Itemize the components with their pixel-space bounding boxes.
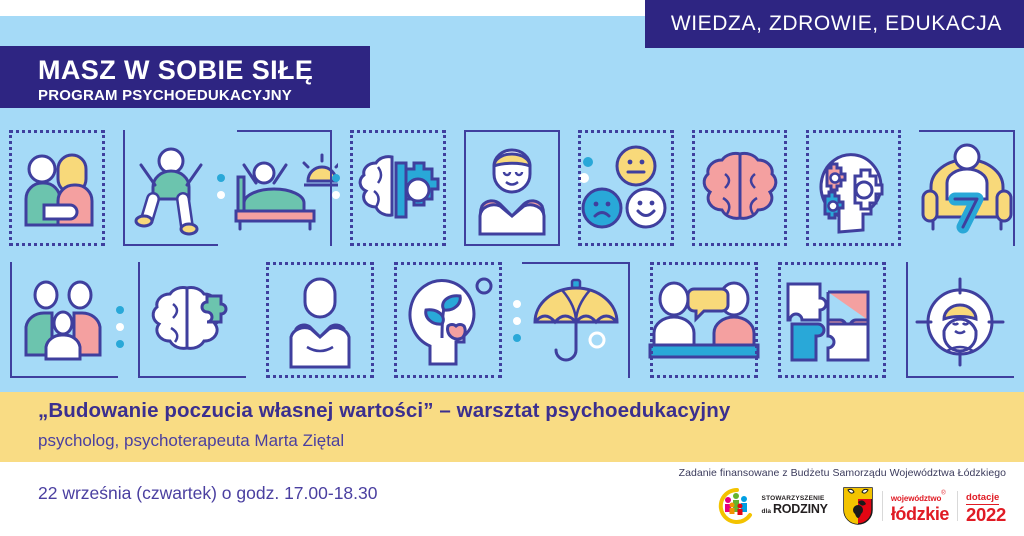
decor-frame-corner xyxy=(906,262,1014,378)
person-in-armchair-icon xyxy=(910,128,1024,252)
decor-frame-dotted xyxy=(806,130,902,246)
emotion-faces-icon xyxy=(569,128,683,252)
voivodeship-logo: województwo® łódzkie dotacje 2022 xyxy=(842,486,1006,526)
lecture-presenter: psycholog, psychoterapeuta Marta Ziętal xyxy=(38,431,344,451)
association-logo: STOWARZYSZENIE dla RODZINY xyxy=(717,487,828,525)
jumping-person-icon xyxy=(114,128,228,252)
puzzle-pieces-icon xyxy=(768,260,896,384)
icon-grid xyxy=(0,120,1024,382)
grants-wordmark: dotacje 2022 xyxy=(966,488,1006,524)
decor-frame-dotted xyxy=(692,130,788,246)
decor-dots xyxy=(513,300,521,351)
funding-note: Zadanie finansowane z Budżetu Samorządu … xyxy=(679,467,1006,479)
event-date: 22 września (czwartek) o godz. 17.00-18.… xyxy=(38,483,377,504)
logo-divider xyxy=(882,491,883,521)
title-box: MASZ W SOBIE SIŁĘ PROGRAM PSYCHOEDUKACYJ… xyxy=(0,46,370,108)
decor-frame-dotted xyxy=(9,130,105,246)
decor-frame-dotted xyxy=(778,262,886,378)
decor-dots xyxy=(332,174,340,208)
logo-strip: STOWARZYSZENIE dla RODZINY województ xyxy=(717,486,1006,526)
header-ribbon: WIEDZA, ZDROWIE, EDUKACJA xyxy=(645,0,1024,48)
decor-frame-corner xyxy=(522,262,630,378)
decor-frame-dotted xyxy=(650,262,758,378)
waking-up-in-bed-sunrise-icon xyxy=(228,128,342,252)
decor-frame-corner xyxy=(123,130,219,246)
umbrella-protection-icon xyxy=(512,260,640,384)
registered-mark: ® xyxy=(941,491,945,497)
icon-row-1 xyxy=(0,128,1024,252)
decor-frame-solid xyxy=(464,130,560,246)
association-line2-big: RODZINY xyxy=(773,503,828,516)
pink-brain-icon xyxy=(683,128,797,252)
page-subtitle: PROGRAM PSYCHOEDUKACYJNY xyxy=(38,87,370,104)
voivodeship-big-text: łódzkie xyxy=(891,505,949,523)
person-holding-heart-icon xyxy=(455,128,569,252)
icon-row-2 xyxy=(0,260,1024,384)
decor-frame-dotted xyxy=(578,130,674,246)
brain-puzzle-piece-icon xyxy=(128,260,256,384)
association-wordmark: STOWARZYSZENIE dla RODZINY xyxy=(762,496,828,515)
association-line2-small: dla xyxy=(762,509,771,516)
decor-frame-corner xyxy=(237,130,333,246)
page-title: MASZ W SOBIE SIŁĘ xyxy=(38,56,370,84)
voivodeship-wordmark: województwo® łódzkie xyxy=(891,489,949,523)
poster-root: WIEDZA, ZDROWIE, EDUKACJA MASZ W SOBIE S… xyxy=(0,0,1024,536)
family-circle-logo-icon xyxy=(717,487,757,525)
head-with-gears-icon xyxy=(796,128,910,252)
family-with-child-icon xyxy=(0,260,128,384)
grants-label: dotacje xyxy=(966,493,999,505)
lecture-title: „Budowanie poczucia własnej wartości” – … xyxy=(38,399,730,423)
decor-frame-dotted xyxy=(394,262,502,378)
two-people-talking-icon xyxy=(640,260,768,384)
lodzkie-coat-of-arms-icon xyxy=(842,486,874,526)
decor-frame-dotted xyxy=(350,130,446,246)
brain-with-gear-icon xyxy=(341,128,455,252)
header-ribbon-text: WIEDZA, ZDROWIE, EDUKACJA xyxy=(671,12,1002,36)
voivodeship-small-text: województwo xyxy=(891,494,941,503)
logo-divider-2 xyxy=(957,491,958,521)
decor-frame-corner xyxy=(919,130,1015,246)
decor-frame-corner xyxy=(10,262,118,378)
person-hands-on-heart-icon xyxy=(256,260,384,384)
grants-year: 2022 xyxy=(966,506,1006,525)
decor-dots xyxy=(217,174,225,208)
head-with-plant-and-heart-icon xyxy=(384,260,512,384)
decor-frame-corner xyxy=(138,262,246,378)
two-people-hugging-icon xyxy=(0,128,114,252)
decor-frame-dotted xyxy=(266,262,374,378)
face-in-target-icon xyxy=(896,260,1024,384)
decor-dots xyxy=(116,306,124,357)
